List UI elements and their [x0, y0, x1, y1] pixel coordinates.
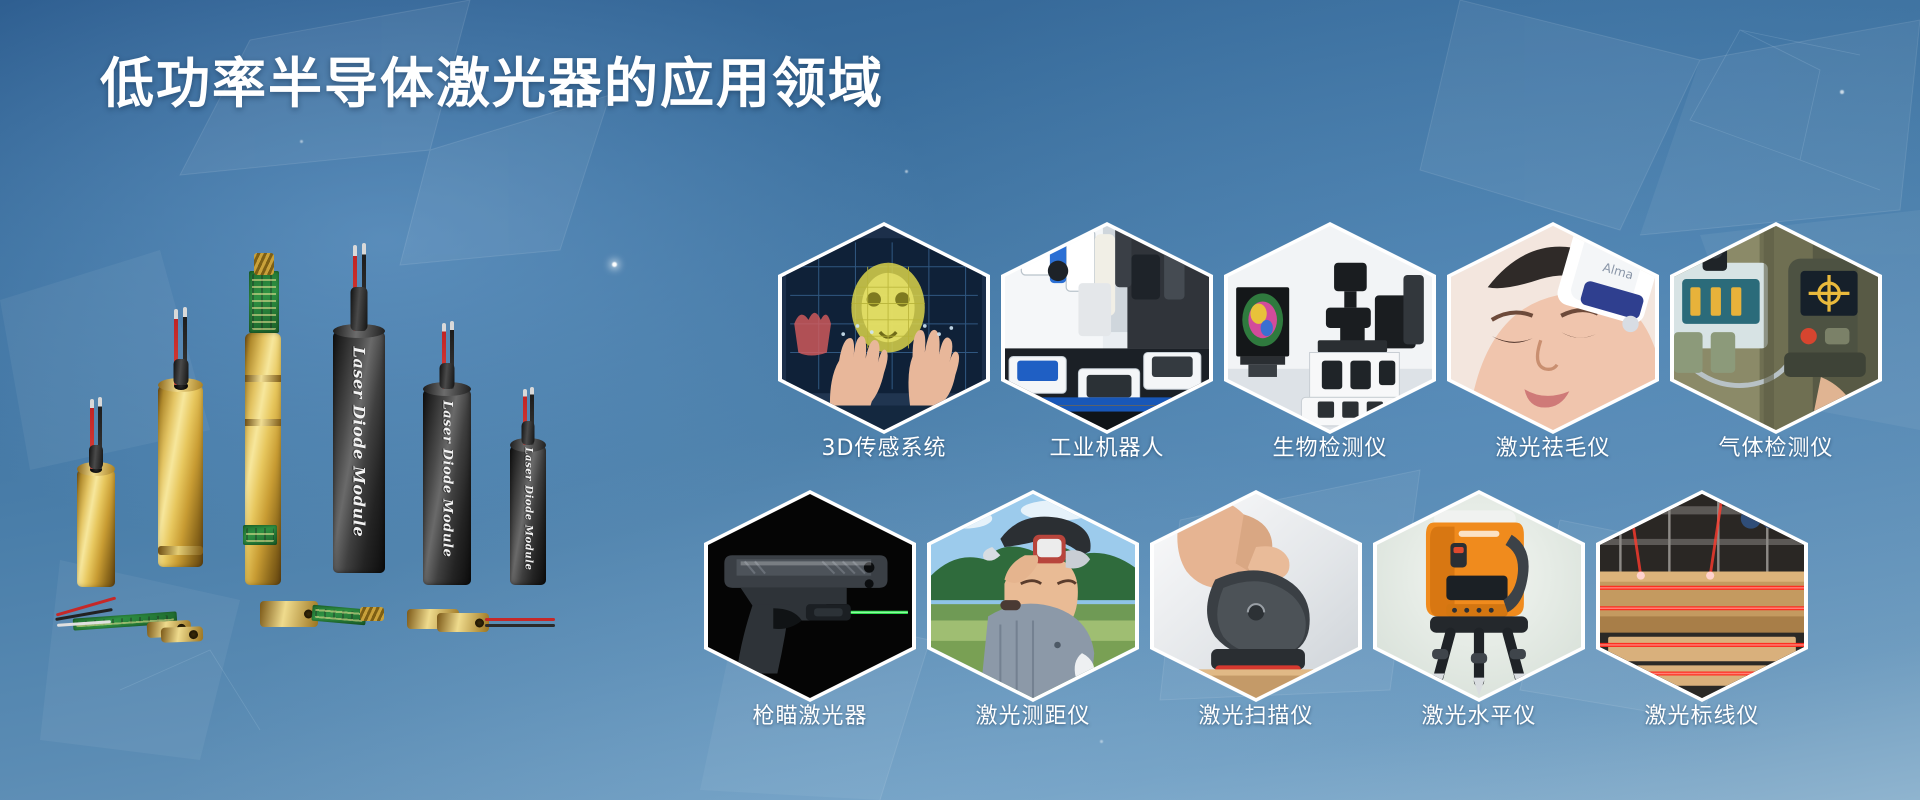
image-bio-detector: [1228, 226, 1432, 430]
hex-cell-gun-sight-laser[interactable]: 枪瞄激光器: [704, 490, 916, 702]
hex-label-bio-detector: 生物检测仪: [1272, 430, 1387, 462]
hex-cell-laser-rangefinder[interactable]: 激光测距仪: [927, 490, 1139, 702]
hex-label-laser-rangefinder: 激光测距仪: [975, 698, 1090, 730]
hex-label-gun-sight-laser: 枪瞄激光器: [752, 698, 867, 730]
image-industrial-robot: [1005, 226, 1209, 430]
hex-cell-laser-line-marker[interactable]: 激光标线仪: [1596, 490, 1808, 702]
hex-label-laser-level: 激光水平仪: [1421, 698, 1536, 730]
laser-application-banner: 低功率半导体激光器的应用领域: [0, 0, 1920, 800]
hex-label-laser-hair-removal: 激光祛毛仪: [1495, 430, 1610, 462]
hex-cell-laser-scanner[interactable]: 激光扫描仪: [1150, 490, 1362, 702]
hex-cell-laser-hair-removal[interactable]: Alma 激光祛毛仪: [1447, 222, 1659, 434]
image-laser-rangefinder: [931, 494, 1135, 698]
hex-label-industrial-robot: 工业机器人: [1049, 430, 1164, 462]
image-laser-scanner: [1154, 494, 1358, 698]
hex-cell-3d-sensing[interactable]: 3D传感系统: [778, 222, 990, 434]
application-hex-grid: 3D传感系统: [0, 0, 1920, 800]
image-gun-sight-laser: [708, 494, 912, 698]
image-gas-detector: [1674, 226, 1878, 430]
image-laser-hair-removal: Alma: [1451, 226, 1655, 430]
hex-label-laser-scanner: 激光扫描仪: [1198, 698, 1313, 730]
hex-label-laser-line-marker: 激光标线仪: [1644, 698, 1759, 730]
image-laser-line-marker: [1600, 494, 1804, 698]
hex-label-gas-detector: 气体检测仪: [1718, 430, 1833, 462]
hex-cell-industrial-robot[interactable]: 工业机器人: [1001, 222, 1213, 434]
image-laser-level: [1377, 494, 1581, 698]
hex-cell-bio-detector[interactable]: 生物检测仪: [1224, 222, 1436, 434]
hex-label-3d-sensing: 3D传感系统: [822, 430, 947, 462]
image-3d-sensing: [782, 226, 986, 430]
hex-cell-laser-level[interactable]: 激光水平仪: [1373, 490, 1585, 702]
hex-cell-gas-detector[interactable]: 气体检测仪: [1670, 222, 1882, 434]
